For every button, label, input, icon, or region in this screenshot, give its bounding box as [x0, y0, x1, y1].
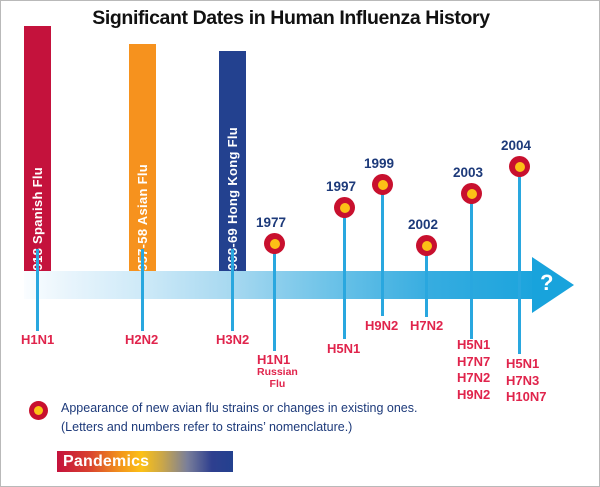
legend-line-2: (Letters and numbers refer to strains’ n… [61, 418, 461, 437]
pandemic-bar-hong-kong-flu: 1968-69 Hong Kong Flu [219, 51, 246, 278]
legend-description: Appearance of new avian flu strains or c… [61, 399, 461, 438]
stem-1997 [343, 213, 346, 339]
question-mark-label: ? [540, 272, 553, 294]
page-title: Significant Dates in Human Influenza His… [61, 7, 521, 30]
stem-2003 [470, 199, 473, 339]
event-marker-1977[interactable] [264, 233, 285, 254]
strain-label-2004-h5n1: H5N1 [506, 356, 546, 373]
strain-label-2003-h7n2: H7N2 [457, 370, 490, 387]
event-year-1997: 1997 [326, 179, 356, 194]
strain-label-h1n1-1918: H1N1 [21, 333, 54, 346]
strain-label-2003-h9n2: H9N2 [457, 387, 490, 404]
infographic-root: Significant Dates in Human Influenza His… [0, 0, 600, 487]
stem-2004 [518, 172, 521, 354]
strain-note-russian-flu-line2: Flu [257, 378, 298, 390]
event-year-2002: 2002 [408, 217, 438, 232]
strain-label-h5n1-1997: H5N1 [327, 342, 360, 355]
event-year-1999: 1999 [364, 156, 394, 171]
strain-label-2003-h5n1: H5N1 [457, 337, 490, 354]
event-marker-2002[interactable] [416, 235, 437, 256]
stem-1977 [273, 249, 276, 351]
strain-label-2004-h10n7: H10N7 [506, 389, 546, 406]
strain-note-russian-flu-line1: Russian [257, 366, 298, 378]
event-marker-1997[interactable] [334, 197, 355, 218]
stem-h1n1-1918 [36, 249, 39, 331]
stem-2002 [425, 251, 428, 317]
event-marker-1999[interactable] [372, 174, 393, 195]
strain-label-h7n2-2002: H7N2 [410, 319, 443, 332]
strain-label-h9n2-1999: H9N2 [365, 319, 398, 332]
pandemic-bar-spanish-flu: 1918 Spanish Flu [24, 26, 51, 278]
event-marker-2003[interactable] [461, 183, 482, 204]
strain-label-group-2004: H5N1 H7N3 H10N7 [506, 356, 546, 406]
stem-h2n2-1957 [141, 249, 144, 331]
strain-label-2003-h7n7: H7N7 [457, 354, 490, 371]
strain-label-h2n2-1957: H2N2 [125, 333, 158, 346]
strain-label-2004-h7n3: H7N3 [506, 373, 546, 390]
event-year-1977: 1977 [256, 215, 286, 230]
event-year-2003: 2003 [453, 165, 483, 180]
stem-1999 [381, 190, 384, 316]
strain-label-h1n1-1977-text: H1N1 [257, 352, 290, 367]
strain-label-h3n2-1968: H3N2 [216, 333, 249, 346]
stem-h3n2-1968 [231, 249, 234, 331]
event-year-2004: 2004 [501, 138, 531, 153]
strain-label-h1n1-1977: H1N1 Russian Flu [257, 353, 298, 390]
pandemics-key-label: Pandemics [63, 453, 149, 471]
legend-line-1: Appearance of new avian flu strains or c… [61, 399, 461, 418]
strain-label-group-2003: H5N1 H7N7 H7N2 H9N2 [457, 337, 490, 404]
legend-marker-icon [29, 401, 48, 420]
pandemic-bar-asian-flu: 1957-58 Asian Flu [129, 44, 156, 278]
event-marker-2004[interactable] [509, 156, 530, 177]
